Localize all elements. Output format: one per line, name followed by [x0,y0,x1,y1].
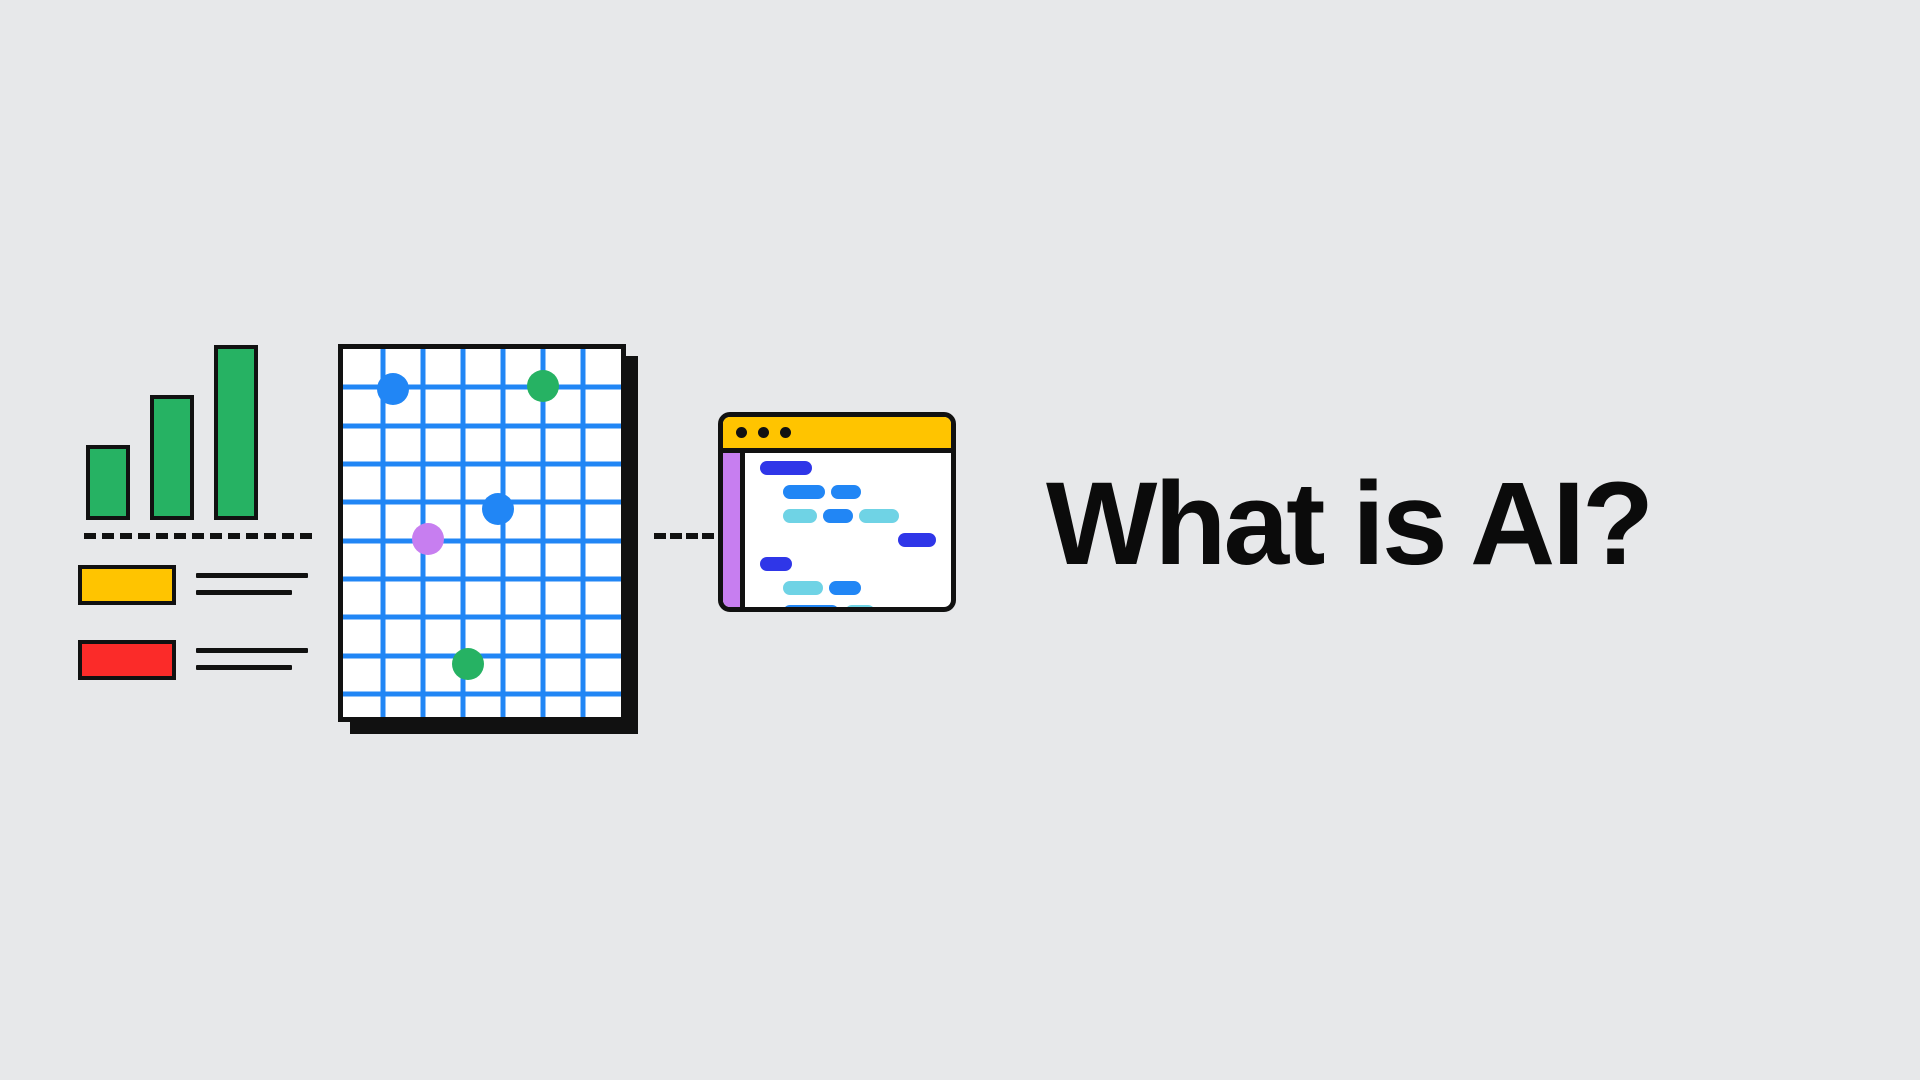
code-line [750,485,951,499]
window-maximize-dot-icon[interactable] [780,427,791,438]
bar-chart-bar-2 [150,395,194,520]
code-token [829,581,861,595]
legend-text-lines-red [196,648,308,670]
scatter-point-green-bottom [452,648,484,680]
window-close-dot-icon[interactable] [736,427,747,438]
code-window-frame [718,412,956,612]
code-line [750,605,951,612]
code-window-sidebar [723,453,745,607]
code-line [750,533,951,547]
code-window-content [750,453,951,607]
code-token [898,533,936,547]
legend-row-red [78,640,308,680]
code-line [750,461,951,475]
window-minimize-dot-icon[interactable] [758,427,769,438]
scatter-point-green-top-right [527,370,559,402]
code-line [750,557,951,571]
scatter-grid-card [338,344,638,734]
code-line [750,581,951,595]
code-window-titlebar [723,417,951,453]
code-token [760,461,812,475]
code-line [750,509,951,523]
scatter-point-blue-middle [482,493,514,525]
bar-chart-bar-3 [214,345,258,520]
scatter-grid-surface [338,344,626,722]
legend-swatch-red [78,640,176,680]
code-token [783,605,839,612]
legend-line-2 [196,590,292,595]
scatter-point-purple-middle [412,523,444,555]
page-title: What is AI? [1046,465,1651,583]
code-token [760,557,792,571]
code-editor-window [718,412,956,612]
legend-line-1 [196,648,308,653]
code-token [831,485,861,499]
ai-concept-illustration [0,0,1010,1080]
dashed-divider [84,533,312,539]
legend-line-1 [196,573,308,578]
code-token [783,485,825,499]
legend-text-lines-yellow [196,573,308,595]
illustration-canvas: What is AI? [0,0,1920,1080]
legend-line-2 [196,665,292,670]
code-token [845,605,875,612]
code-token [859,509,899,523]
code-token [783,581,823,595]
legend-row-yellow [78,565,308,605]
code-token [823,509,853,523]
legend-swatch-yellow [78,565,176,605]
growth-bar-chart [78,340,278,520]
code-token [783,509,817,523]
scatter-point-blue-top-left [377,373,409,405]
dashed-connector-grid-to-window [654,533,714,539]
bar-chart-bar-1 [86,445,130,520]
